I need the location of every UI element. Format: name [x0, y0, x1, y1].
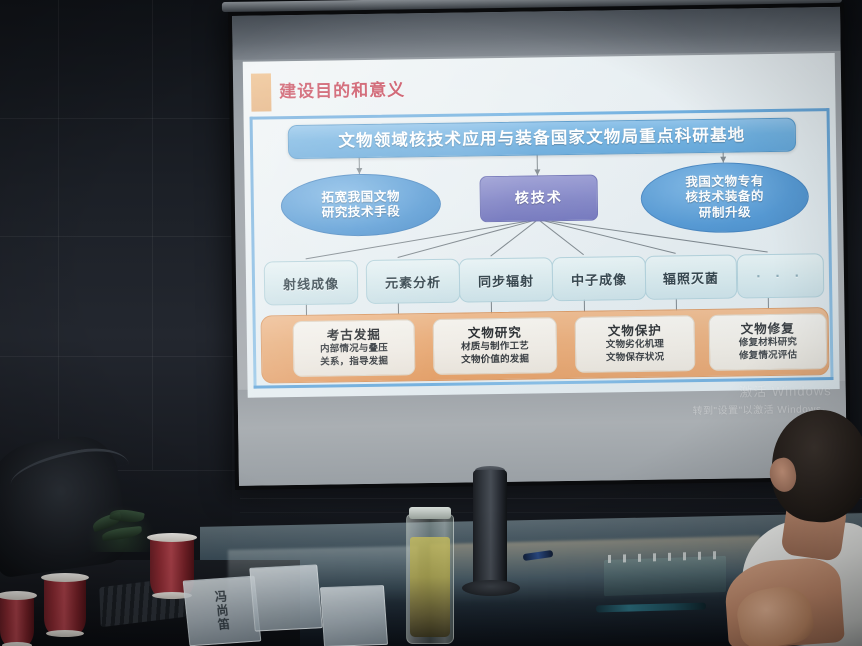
- application-sub-2a: 材质与制作工艺: [461, 341, 529, 354]
- application-card-1: 考古发掘 内部情况与叠压 关系，指导发掘: [293, 319, 416, 377]
- goal-right-line-1: 我国文物专有: [685, 174, 764, 190]
- title-accent-tab: [251, 73, 272, 111]
- application-sub-3b: 文物保存状况: [606, 351, 664, 364]
- goal-left-line-2: 研究技术手段: [322, 204, 401, 220]
- wall-seam: [152, 0, 153, 470]
- goal-left-line-1: 拓宽我国文物: [321, 189, 400, 205]
- diagram-core-node: 核技术: [479, 175, 598, 223]
- technique-pill-more: · · ·: [737, 253, 825, 298]
- goal-right-line-3: 研制升级: [699, 205, 752, 221]
- technique-row: 射线成像 元素分析 同步辐射 中子成像 辐照灭菌 · · ·: [260, 253, 827, 303]
- projection-screen-surface: 建设目的和意义: [232, 7, 847, 486]
- wall-seam: [0, 356, 240, 357]
- technique-label-2: 元素分析: [385, 271, 441, 291]
- wall-seam: [0, 118, 240, 119]
- application-card-4: 文物修复 修复材料研究 修复情况评估: [709, 313, 828, 371]
- technique-pill-4: 中子成像: [552, 256, 647, 301]
- slide-diagram: 文物领域核技术应用与装备国家文物局重点科研基地 拓宽我国文物 研究技术手段 核技…: [244, 111, 840, 390]
- wall-seam: [240, 512, 862, 513]
- application-sub-4b: 修复情况评估: [739, 349, 797, 362]
- technique-label-more: · · ·: [756, 267, 805, 285]
- application-sub-1a: 内部情况与叠压: [320, 343, 388, 356]
- application-sub-2b: 文物价值的发掘: [461, 353, 529, 366]
- application-heading-4: 文物修复: [741, 321, 795, 337]
- diagram-root-label: 文物领域核技术应用与装备国家文物局重点科研基地: [338, 125, 745, 151]
- room-wall-left: [0, 0, 232, 646]
- projection-screen: 建设目的和意义: [228, 3, 851, 490]
- wall-seam: [0, 470, 236, 471]
- wall-seam: [0, 236, 240, 237]
- application-heading-3: 文物保护: [608, 323, 662, 339]
- application-heading-1: 考古发掘: [327, 328, 381, 344]
- presentation-slide: 建设目的和意义: [243, 53, 840, 398]
- technique-pill-2: 元素分析: [366, 259, 461, 304]
- photo-scene: 建设目的和意义: [0, 0, 862, 646]
- application-heading-2: 文物研究: [468, 326, 522, 342]
- technique-pill-5: 辐照灭菌: [645, 254, 738, 299]
- screen-top-band: [232, 7, 841, 60]
- application-card-2: 文物研究 材质与制作工艺 文物价值的发掘: [433, 317, 558, 375]
- goal-right-line-2: 核技术装备的: [685, 189, 764, 205]
- slide-title: 建设目的和意义: [279, 75, 405, 102]
- application-sub-1b: 关系，指导发掘: [320, 355, 388, 368]
- screen-bottom-band: [238, 381, 847, 486]
- application-sub-4a: 修复材料研究: [739, 337, 797, 350]
- technique-label-5: 辐照灭菌: [663, 267, 719, 287]
- technique-pill-3: 同步辐射: [459, 257, 554, 302]
- wall-seam: [240, 498, 862, 499]
- technique-label-1: 射线成像: [283, 273, 339, 293]
- technique-label-4: 中子成像: [571, 269, 627, 289]
- core-node-label: 核技术: [515, 190, 563, 208]
- technique-label-3: 同步辐射: [478, 270, 534, 290]
- application-card-3: 文物保护 文物劣化机理 文物保存状况: [575, 315, 696, 373]
- wall-seam: [58, 0, 59, 470]
- technique-pill-1: 射线成像: [264, 260, 359, 305]
- application-sub-3a: 文物劣化机理: [606, 339, 664, 352]
